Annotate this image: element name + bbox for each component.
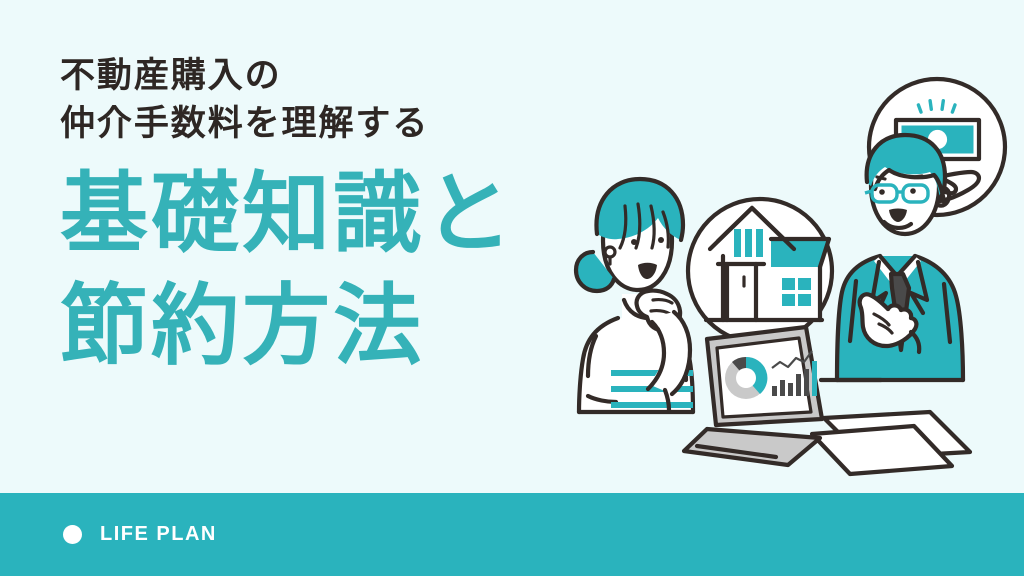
footer-bar: LIFE PLAN bbox=[0, 493, 1024, 576]
documents-stack bbox=[812, 412, 970, 474]
bullet-circle-icon bbox=[63, 525, 82, 544]
title-card: 不動産購入の 仲介手数料を理解する 基礎知識と 節約方法 .ln { fill:… bbox=[0, 0, 1024, 576]
page-title-line-2: 節約方法 bbox=[60, 277, 620, 376]
woman-figure bbox=[576, 179, 693, 412]
consultation-illustration: .ln { fill:none; stroke:#332B28; stroke-… bbox=[566, 56, 1024, 496]
attic-windows bbox=[734, 229, 763, 257]
subtitle-line-1: 不動産購入の bbox=[60, 52, 620, 100]
page-title-line-1: 基礎知識と bbox=[60, 165, 620, 264]
donut-chart bbox=[725, 357, 767, 399]
illustration-svg: .ln { fill:none; stroke:#332B28; stroke-… bbox=[566, 56, 1024, 496]
footer-label: LIFE PLAN bbox=[100, 523, 217, 546]
headline-group: 不動産購入の 仲介手数料を理解する 基礎知識と 節約方法 bbox=[60, 52, 620, 376]
subtitle-line-2: 仲介手数料を理解する bbox=[60, 100, 620, 148]
man-figure bbox=[837, 135, 963, 380]
laptop bbox=[684, 327, 822, 465]
